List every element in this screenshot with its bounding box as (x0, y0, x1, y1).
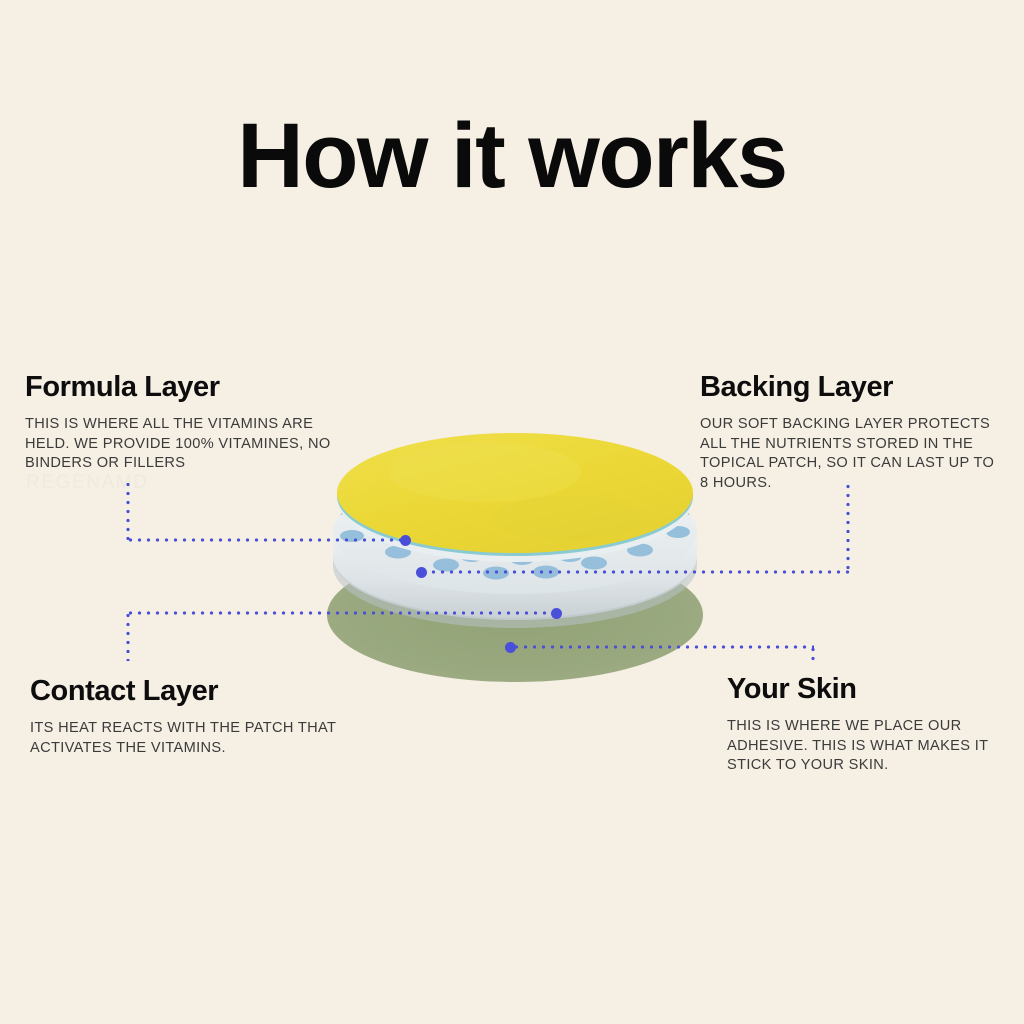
patch-illustration (300, 360, 730, 690)
connector-contact-layer-horizontal (126, 611, 556, 615)
callout-backing-layer: Backing Layer OUR SOFT BACKING LAYER PRO… (700, 370, 1005, 493)
callout-formula-layer: Formula Layer THIS IS WHERE ALL THE VITA… (25, 370, 335, 474)
connector-formula-layer-horizontal (126, 538, 408, 542)
callout-your-skin-title: Your Skin (727, 672, 1012, 706)
callout-contact-layer: Contact Layer ITS HEAT REACTS WITH THE P… (30, 674, 350, 758)
callout-backing-layer-body: OUR SOFT BACKING LAYER PROTECTS ALL THE … (700, 415, 1005, 493)
page-title: How it works (0, 104, 1024, 208)
callout-formula-layer-title: Formula Layer (25, 370, 335, 404)
connector-your-skin-endpoint (505, 642, 516, 653)
connector-backing-layer-horizontal (420, 570, 850, 574)
callout-backing-layer-title: Backing Layer (700, 370, 1005, 404)
connector-contact-layer-endpoint (551, 608, 562, 619)
brand-watermark: REGENAMD (26, 472, 149, 494)
connector-your-skin-vertical (811, 645, 815, 665)
connector-formula-layer-vertical (126, 480, 130, 540)
callout-your-skin-body: THIS IS WHERE WE PLACE OUR ADHESIVE. THI… (727, 717, 1012, 776)
callout-contact-layer-title: Contact Layer (30, 674, 350, 708)
callout-formula-layer-body: THIS IS WHERE ALL THE VITAMINS ARE HELD.… (25, 415, 335, 474)
connector-your-skin-horizontal (512, 645, 814, 649)
connector-formula-layer-endpoint (400, 535, 411, 546)
infographic-canvas: How it works REGENAMD (0, 0, 1024, 1024)
callout-your-skin: Your Skin THIS IS WHERE WE PLACE OUR ADH… (727, 672, 1012, 776)
callout-contact-layer-body: ITS HEAT REACTS WITH THE PATCH THAT ACTI… (30, 719, 350, 758)
connector-contact-layer-vertical (126, 611, 130, 661)
connector-backing-layer-endpoint (416, 567, 427, 578)
connector-backing-layer-vertical (846, 482, 850, 572)
